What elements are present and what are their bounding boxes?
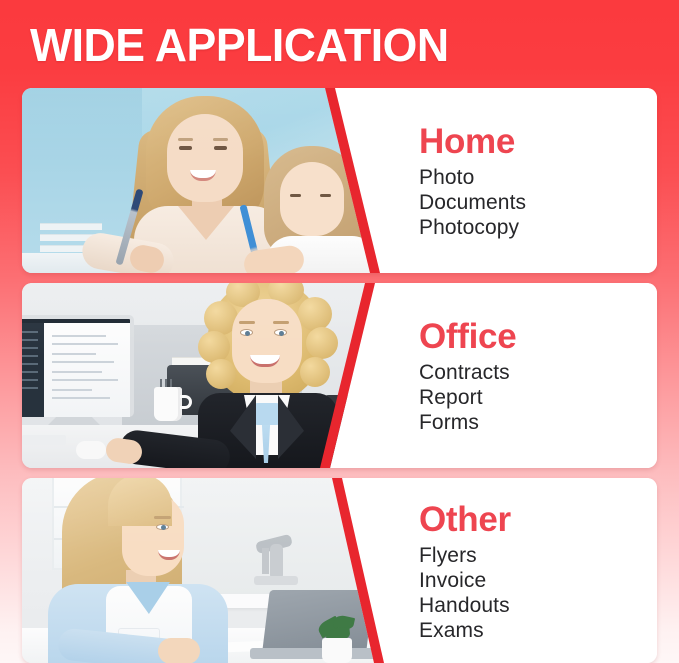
photo-lab-worker: [22, 478, 402, 663]
list-item: Documents: [419, 190, 657, 215]
list-item: Exams: [419, 618, 657, 643]
application-card-office[interactable]: Office Contracts Report Forms: [22, 283, 657, 468]
card-heading-home: Home: [419, 121, 657, 163]
card-item-list-other: Flyers Invoice Handouts Exams: [419, 543, 657, 643]
list-item: Photo: [419, 165, 657, 190]
application-card-other[interactable]: Other Flyers Invoice Handouts Exams: [22, 478, 657, 663]
card-text-other: Other Flyers Invoice Handouts Exams: [397, 478, 657, 663]
list-item: Forms: [419, 410, 657, 435]
card-item-list-home: Photo Documents Photocopy: [419, 165, 657, 240]
card-item-list-office: Contracts Report Forms: [419, 360, 657, 435]
photo-office-worker: [22, 283, 402, 468]
card-heading-other: Other: [419, 499, 657, 541]
page-title: WIDE APPLICATION: [30, 18, 449, 72]
photo-mother-and-child: [22, 88, 402, 273]
list-item: Handouts: [419, 593, 657, 618]
application-card-home[interactable]: Home Photo Documents Photocopy: [22, 88, 657, 273]
card-heading-office: Office: [419, 316, 657, 358]
card-text-home: Home Photo Documents Photocopy: [397, 88, 657, 273]
list-item: Flyers: [419, 543, 657, 568]
card-photo-other: [22, 478, 402, 663]
card-text-office: Office Contracts Report Forms: [397, 283, 657, 468]
card-photo-office: [22, 283, 402, 468]
list-item: Contracts: [419, 360, 657, 385]
application-cards-list: Home Photo Documents Photocopy: [22, 88, 657, 663]
list-item: Photocopy: [419, 215, 657, 240]
list-item: Report: [419, 385, 657, 410]
card-photo-home: [22, 88, 402, 273]
list-item: Invoice: [419, 568, 657, 593]
